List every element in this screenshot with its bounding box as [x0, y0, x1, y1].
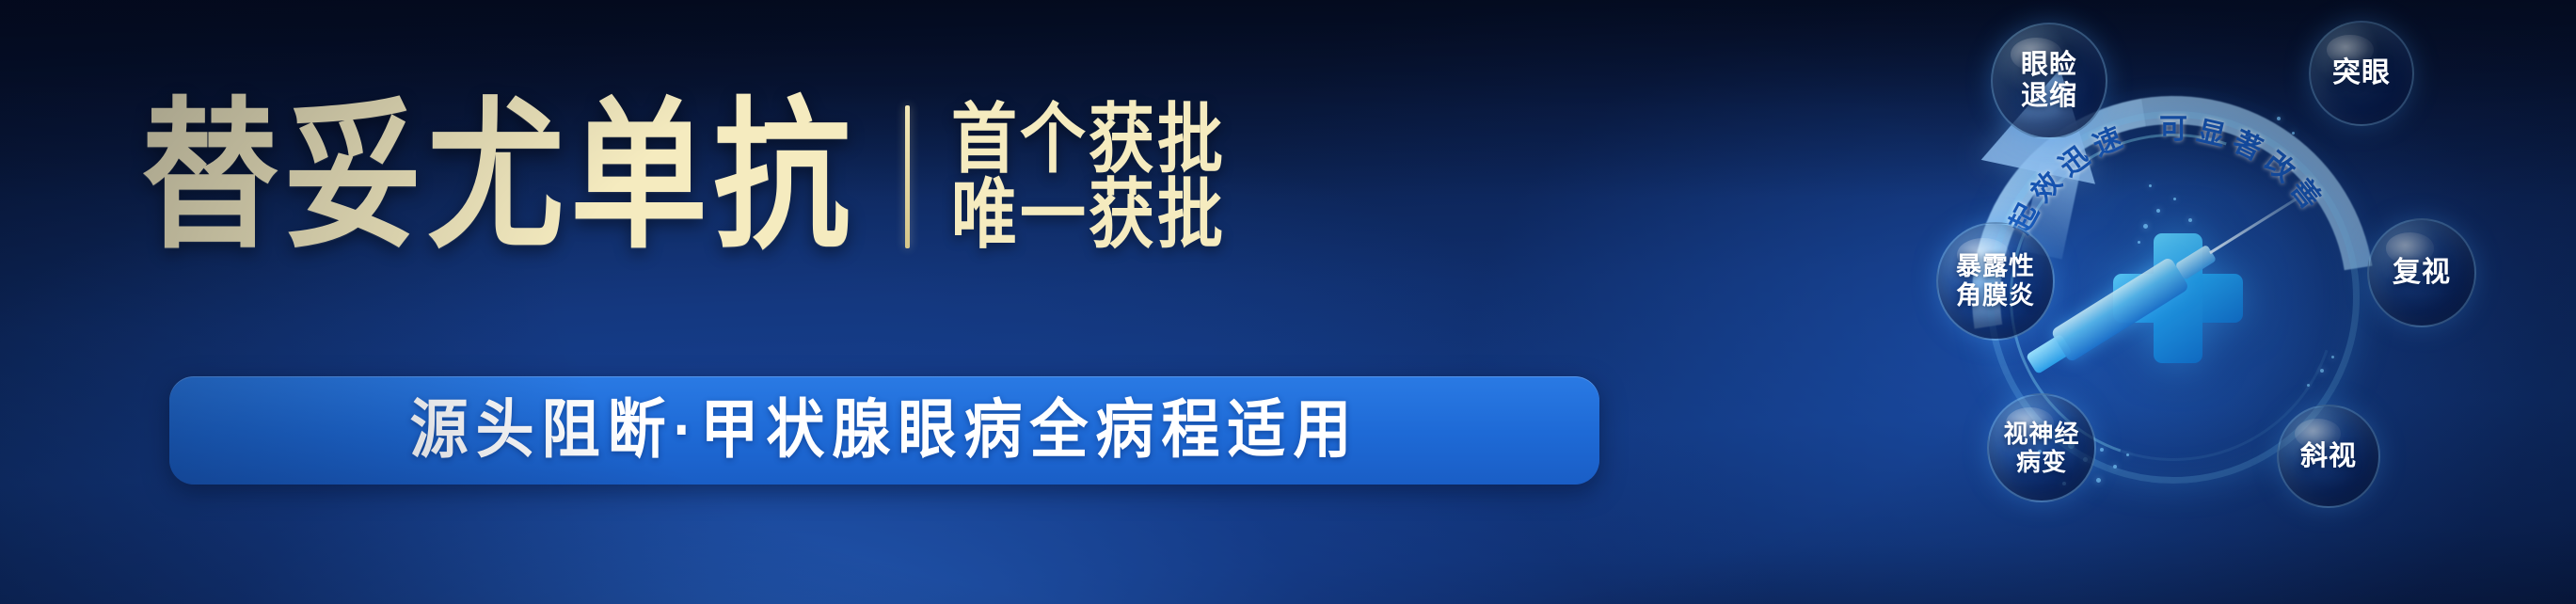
particle: [2126, 453, 2129, 456]
badge-line-only-approved: 唯一获批: [951, 174, 1226, 255]
particle: [2143, 224, 2148, 229]
particle: [2113, 465, 2117, 469]
tagline-pill[interactable]: 源头阻断·甲状腺眼病全病程适用: [169, 376, 1599, 485]
particle: [2307, 384, 2310, 387]
particle: [2292, 132, 2295, 135]
bubble-eyelid-retraction[interactable]: 眼睑 退缩: [1991, 23, 2107, 139]
bubble-label: 复视: [2393, 257, 2451, 289]
particle: [2149, 184, 2152, 187]
bubble-label: 视神经 病变: [2003, 420, 2079, 476]
bubble-proptosis[interactable]: 突眼: [2309, 21, 2414, 126]
bubble-diplopia[interactable]: 复视: [2367, 218, 2476, 327]
particle: [2331, 356, 2334, 358]
bubble-strabismus[interactable]: 斜视: [2277, 405, 2380, 508]
particle: [2320, 369, 2324, 373]
product-graphic: 起效迅速可显著改善 眼睑 退缩突眼暴露性 角膜炎复视视神经 病变斜视: [1769, 0, 2576, 604]
particle: [2188, 218, 2192, 222]
bubble-exposure-keratitis[interactable]: 暴露性 角膜炎: [1936, 222, 2055, 341]
bubble-label: 眼睑 退缩: [2021, 50, 2077, 112]
particle: [2100, 448, 2104, 452]
particle: [2277, 117, 2281, 120]
main-title: 替妥尤单抗: [141, 94, 856, 261]
vertical-divider: [905, 105, 910, 248]
bubble-label: 突眼: [2332, 57, 2391, 89]
bubble-optic-neuropathy[interactable]: 视神经 病变: [1987, 393, 2096, 502]
tagline-text: 源头阻断·甲状腺眼病全病程适用: [410, 397, 1360, 463]
headline-row: 替妥尤单抗 首个获批 唯一获批: [141, 83, 1609, 271]
promo-banner: 替妥尤单抗 首个获批 唯一获批 源头阻断·甲状腺眼病全病程适用 起效迅速可显著改…: [0, 0, 2576, 604]
particle: [2138, 241, 2140, 244]
badge-line-first-approved: 首个获批: [951, 99, 1226, 180]
bubble-label: 斜视: [2300, 441, 2357, 472]
particle: [2156, 209, 2160, 213]
particle: [2173, 198, 2176, 200]
bubble-label: 暴露性 角膜炎: [1956, 252, 2035, 310]
badge-lines: 首个获批 唯一获批: [951, 104, 1226, 249]
particle: [2096, 478, 2101, 483]
